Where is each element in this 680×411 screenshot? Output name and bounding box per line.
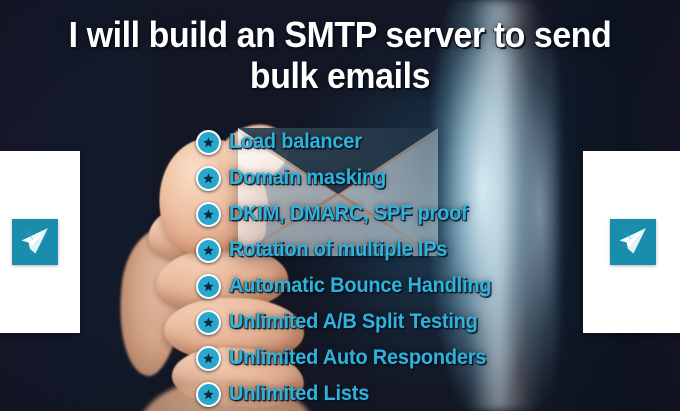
badge-card-left	[0, 151, 80, 333]
feature-item: Rotation of multiple IPs	[196, 232, 505, 268]
feature-label: Load balancer	[229, 130, 362, 154]
star-bullet-icon	[196, 310, 221, 335]
feature-label: Unlimited A/B Split Testing	[229, 310, 478, 334]
feature-list: Load balancerDomain maskingDKIM, DMARC, …	[196, 124, 505, 411]
feature-item: Load balancer	[196, 124, 505, 160]
feature-item: Unlimited Lists	[196, 376, 505, 411]
paper-plane-icon	[12, 219, 58, 265]
promo-banner: I will build an SMTP server to send bulk…	[0, 0, 680, 411]
star-bullet-icon	[196, 238, 221, 263]
feature-item: DKIM, DMARC, SPF proof	[196, 196, 505, 232]
feature-label: Domain masking	[229, 166, 386, 190]
badge-card-right	[583, 151, 680, 333]
star-bullet-icon	[196, 346, 221, 371]
feature-label: Rotation of multiple IPs	[229, 238, 447, 262]
star-bullet-icon	[196, 166, 221, 191]
feature-label: DKIM, DMARC, SPF proof	[229, 202, 468, 226]
star-bullet-icon	[196, 202, 221, 227]
paper-plane-icon	[610, 219, 656, 265]
feature-item: Domain masking	[196, 160, 505, 196]
feature-label: Automatic Bounce Handling	[229, 274, 491, 298]
feature-item: Unlimited A/B Split Testing	[196, 304, 505, 340]
star-bullet-icon	[196, 382, 221, 407]
feature-item: Automatic Bounce Handling	[196, 268, 505, 304]
page-title: I will build an SMTP server to send bulk…	[20, 14, 659, 97]
star-bullet-icon	[196, 274, 221, 299]
feature-label: Unlimited Auto Responders	[229, 346, 486, 370]
feature-item: Unlimited Auto Responders	[196, 340, 505, 376]
feature-label: Unlimited Lists	[229, 382, 369, 406]
star-bullet-icon	[196, 130, 221, 155]
